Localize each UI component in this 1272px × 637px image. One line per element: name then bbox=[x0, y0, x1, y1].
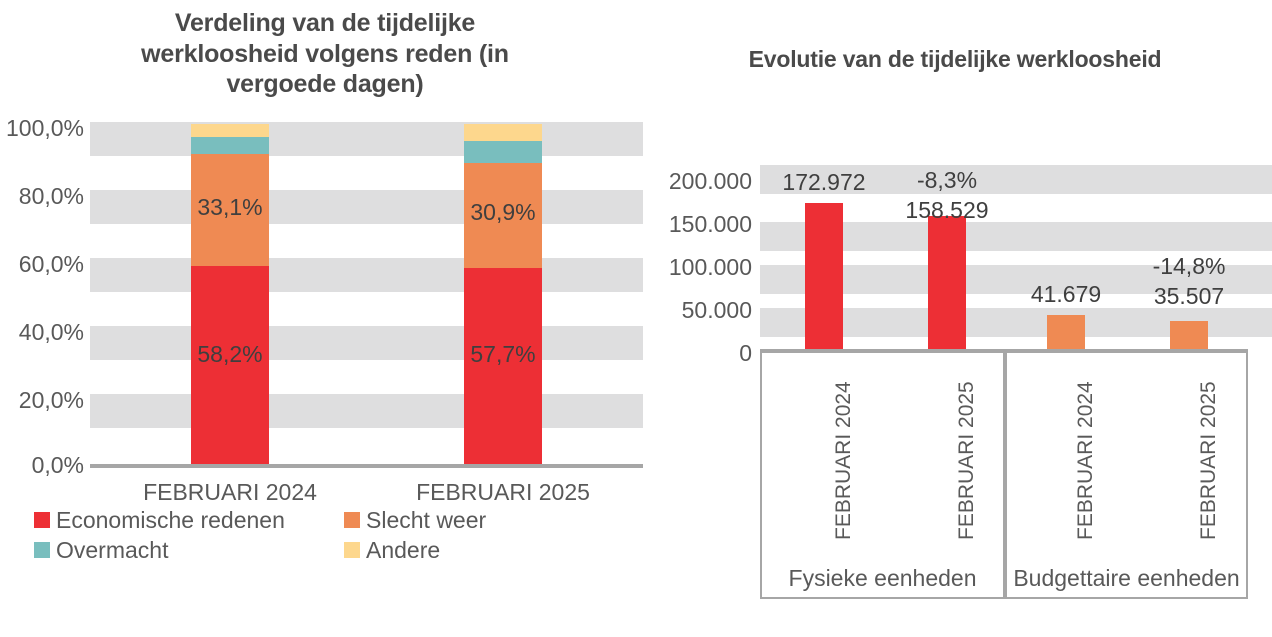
legend-swatch-icon bbox=[34, 512, 50, 528]
gridband bbox=[90, 258, 643, 292]
legend-label: Overmacht bbox=[56, 539, 168, 562]
legend-label: Economische redenen bbox=[56, 509, 285, 532]
legend-label: Slecht weer bbox=[366, 509, 486, 532]
group-label-budgettaire-eenheden: Budgettaire eenheden bbox=[1005, 565, 1248, 592]
legend-item-overmacht[interactable]: Overmacht bbox=[34, 539, 344, 562]
segment-slecht-weer-2024[interactable]: 33,1% bbox=[191, 154, 269, 267]
x-axis-line bbox=[90, 464, 643, 468]
right-chart-panel: Evolutie van de tijdelijke werkloosheid … bbox=[650, 0, 1272, 637]
segment-label-economische-2025: 57,7% bbox=[464, 341, 542, 368]
segment-andere-2025[interactable] bbox=[464, 124, 542, 141]
y-tick-label: 60,0% bbox=[0, 251, 84, 278]
legend-label: Andere bbox=[366, 539, 440, 562]
legend-row: Overmacht Andere bbox=[34, 535, 594, 565]
rot-category-label-fysieke-2025: FEBRUARI 2025 bbox=[955, 381, 979, 540]
gridband bbox=[90, 326, 643, 360]
segment-slecht-weer-2025[interactable]: 30,9% bbox=[464, 163, 542, 268]
delta-fysieke: -8,3% bbox=[889, 167, 1005, 194]
bar-fysieke-2024[interactable] bbox=[805, 203, 843, 351]
legend-item-andere[interactable]: Andere bbox=[344, 539, 440, 562]
segment-economische-2024[interactable]: 58,2% bbox=[191, 266, 269, 464]
y-tick-label: 50.000 bbox=[650, 297, 752, 324]
rot-category-label-budgettaire-2024: FEBRUARI 2024 bbox=[1074, 381, 1098, 540]
legend-swatch-icon bbox=[34, 542, 50, 558]
legend-swatch-icon bbox=[344, 542, 360, 558]
bar-value-budgettaire-2025: 35.507 bbox=[1131, 283, 1247, 310]
left-plot-area: 100,0% 80,0% 60,0% 40,0% 20,0% 0,0% 33,1… bbox=[0, 0, 650, 637]
legend-item-economische-redenen[interactable]: Economische redenen bbox=[34, 509, 344, 532]
bar-budgettaire-2024[interactable] bbox=[1047, 315, 1085, 351]
gridband bbox=[90, 394, 643, 428]
delta-budgettaire: -14,8% bbox=[1131, 253, 1247, 280]
y-tick-label: 40,0% bbox=[0, 319, 84, 346]
segment-label-slecht-weer-2025: 30,9% bbox=[464, 199, 542, 226]
right-plot-area: 200.000 150.000 100.000 50.000 0 172.972… bbox=[650, 0, 1272, 637]
legend-item-slecht-weer[interactable]: Slecht weer bbox=[344, 509, 486, 532]
gridband bbox=[90, 190, 643, 224]
y-tick-label: 150.000 bbox=[650, 211, 752, 238]
gridband bbox=[90, 122, 643, 156]
rot-category-label-budgettaire-2025: FEBRUARI 2025 bbox=[1197, 381, 1221, 540]
y-tick-label: 20,0% bbox=[0, 387, 84, 414]
y-tick-label: 0,0% bbox=[0, 452, 84, 479]
bar-budgettaire-2025[interactable] bbox=[1170, 321, 1208, 351]
stacked-bar-2024[interactable]: 33,1% 58,2% bbox=[191, 124, 269, 464]
segment-overmacht-2024[interactable] bbox=[191, 137, 269, 154]
segment-label-economische-2024: 58,2% bbox=[191, 341, 269, 368]
left-chart-panel: Verdeling van de tijdelijke werkloosheid… bbox=[0, 0, 650, 637]
bar-value-fysieke-2025: 158.529 bbox=[889, 197, 1005, 224]
legend-swatch-icon bbox=[344, 512, 360, 528]
segment-overmacht-2025[interactable] bbox=[464, 141, 542, 163]
y-tick-label: 200.000 bbox=[650, 168, 752, 195]
legend: Economische redenen Slecht weer Overmach… bbox=[34, 505, 594, 565]
bar-fysieke-2025[interactable] bbox=[928, 216, 966, 351]
rot-category-label-fysieke-2024: FEBRUARI 2024 bbox=[832, 381, 856, 540]
bar-value-budgettaire-2024: 41.679 bbox=[1008, 281, 1124, 308]
bar-value-fysieke-2024: 172.972 bbox=[766, 169, 882, 196]
segment-label-slecht-weer-2024: 33,1% bbox=[191, 194, 269, 221]
category-label-2024: FEBRUARI 2024 bbox=[90, 479, 370, 506]
stacked-bar-2025[interactable]: 30,9% 57,7% bbox=[464, 124, 542, 464]
segment-andere-2024[interactable] bbox=[191, 124, 269, 137]
y-tick-label: 80,0% bbox=[0, 183, 84, 210]
y-tick-label: 100,0% bbox=[0, 115, 84, 142]
y-tick-label: 100.000 bbox=[650, 254, 752, 281]
group-label-fysieke-eenheden: Fysieke eenheden bbox=[760, 565, 1005, 592]
legend-row: Economische redenen Slecht weer bbox=[34, 505, 594, 535]
segment-economische-2025[interactable]: 57,7% bbox=[464, 268, 542, 464]
category-label-2025: FEBRUARI 2025 bbox=[363, 479, 643, 506]
y-tick-label: 0 bbox=[650, 340, 752, 367]
